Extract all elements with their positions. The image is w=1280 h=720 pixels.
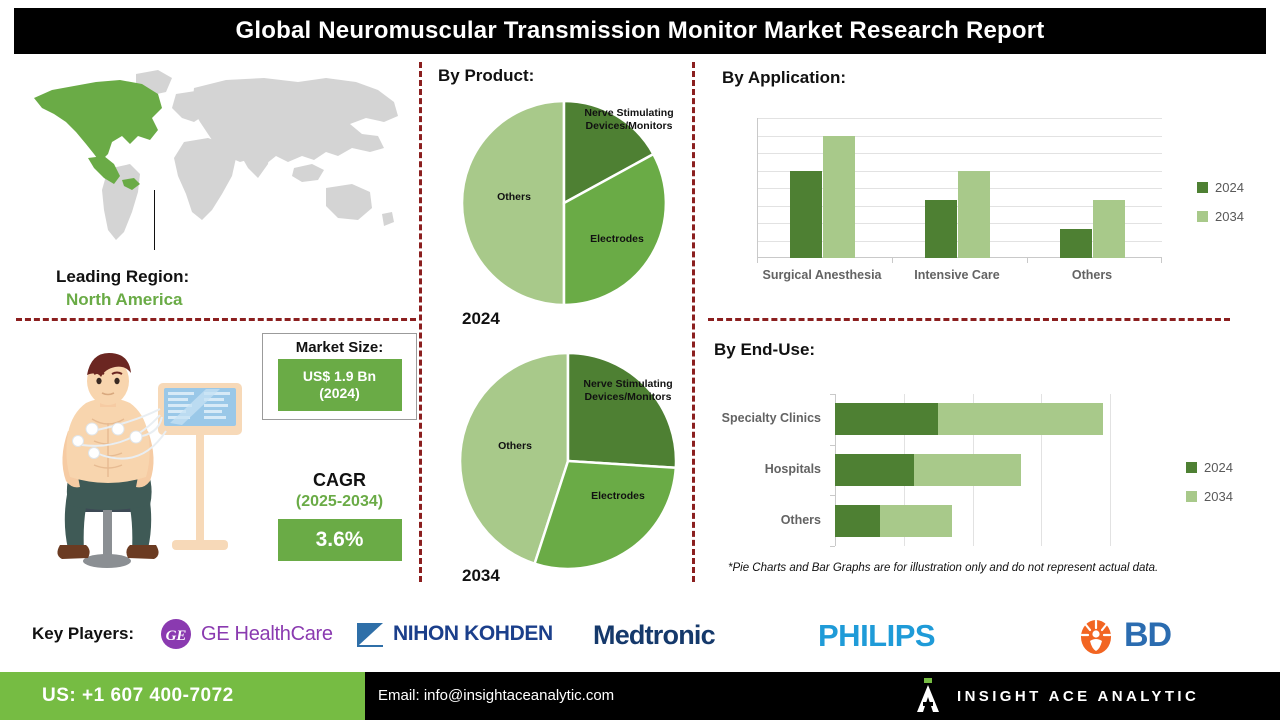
hbar-specialty-2024: [835, 403, 938, 435]
pie-2034-year: 2034: [462, 566, 500, 586]
legend-item-2034: 2034: [1197, 209, 1244, 224]
bar-category-intensive: Intensive Care: [887, 268, 1027, 282]
hbar-specialty-2034: [938, 403, 1103, 435]
divider-vertical-left: [419, 62, 422, 582]
patient-monitoring-illustration: [34, 345, 249, 590]
legend-item-2024: 2024: [1197, 180, 1244, 195]
market-size-title: Market Size:: [296, 339, 384, 356]
legend-swatch-2024: [1197, 182, 1208, 193]
market-size-chip: US$ 1.9 Bn (2024): [278, 359, 402, 411]
bd-flame-icon: [1078, 617, 1114, 655]
legend-label-end-2024: 2024: [1204, 460, 1233, 475]
section-title-by-end-use: By End-Use:: [714, 340, 815, 360]
logo-ge-healthcare: GE GE HealthCare: [160, 618, 333, 650]
hbar-hospitals-2034: [914, 454, 1021, 486]
legend-swatch-end-2024: [1186, 462, 1197, 473]
logo-nihon-kohden-text: NIHON KOHDEN: [393, 622, 553, 646]
bar-others-app-2024: [1060, 229, 1092, 258]
legend-swatch-2034: [1197, 211, 1208, 222]
market-size-box: Market Size: US$ 1.9 Bn (2024): [262, 333, 417, 420]
hbar-category-specialty: Specialty Clinics: [691, 411, 821, 425]
bar-category-surgical: Surgical Anesthesia: [752, 268, 892, 282]
cagr-value-chip: 3.6%: [278, 519, 402, 561]
bar-others-app-2034: [1093, 200, 1125, 258]
legend-label-2024: 2024: [1215, 180, 1244, 195]
market-size-value: US$ 1.9 Bn: [303, 368, 376, 385]
cagr-value: 3.6%: [316, 528, 364, 552]
leading-region-value: North America: [66, 290, 183, 310]
logo-medtronic-text: Medtronic: [593, 620, 715, 650]
bar-chart-by-application: Surgical Anesthesia Intensive Care Other…: [757, 118, 1162, 258]
legend-by-end-use: 2024 2034: [1186, 460, 1233, 518]
nihon-kohden-mark-icon: [355, 620, 385, 648]
hbar-hospitals-2024: [835, 454, 914, 486]
ge-monogram-icon: GE: [160, 618, 192, 650]
brand-name: INSIGHT ACE ANALYTIC: [957, 688, 1199, 705]
legend-label-2034: 2034: [1215, 209, 1244, 224]
footer-email[interactable]: Email: info@insightaceanalytic.com: [378, 687, 614, 704]
pie-chart-by-product-2024: Nerve Stimulating Devices/Monitors Elect…: [456, 95, 672, 316]
logo-nihon-kohden: NIHON KOHDEN: [355, 620, 553, 648]
world-map: [26, 64, 416, 254]
logo-bd-text: BD: [1124, 616, 1171, 655]
cagr-title: CAGR: [262, 470, 417, 491]
bar-intensive-2034: [958, 171, 990, 259]
legend-label-end-2034: 2034: [1204, 489, 1233, 504]
map-leader-line: [154, 190, 155, 250]
bar-intensive-2024: [925, 200, 957, 258]
svg-text:GE: GE: [166, 628, 187, 644]
divider-horizontal-right: [708, 318, 1230, 321]
leading-region-label: Leading Region:: [56, 267, 189, 287]
legend-swatch-end-2034: [1186, 491, 1197, 502]
footer-phone[interactable]: US: +1 607 400-7072: [42, 685, 234, 707]
market-size-year: (2024): [319, 385, 359, 402]
report-header: Global Neuromuscular Transmission Monito…: [14, 8, 1266, 54]
logo-medtronic: Medtronic: [593, 620, 715, 651]
cagr-block: CAGR (2025-2034) 3.6%: [262, 470, 417, 561]
page-title: Global Neuromuscular Transmission Monito…: [236, 17, 1045, 45]
key-players-label: Key Players:: [32, 624, 134, 644]
logo-ge-healthcare-text: GE HealthCare: [201, 623, 333, 646]
bar-surgical-2034: [823, 136, 855, 259]
logo-bd: BD: [1078, 616, 1171, 655]
bar-category-others-app: Others: [1022, 268, 1162, 282]
bar-surgical-2024: [790, 171, 822, 259]
hbar-others-end-2034: [880, 505, 952, 537]
cagr-period: (2025-2034): [262, 493, 417, 511]
divider-vertical-right: [692, 62, 695, 582]
key-players-row: Key Players: GE GE HealthCare NIHON KOHD…: [0, 600, 1280, 672]
bar-chart-by-end-use: Specialty Clinics Hospitals Others: [835, 394, 1165, 546]
divider-horizontal-left: [16, 318, 416, 321]
hbar-others-end-2024: [835, 505, 880, 537]
logo-philips: PHILIPS: [818, 618, 935, 654]
legend-by-application: 2024 2034: [1197, 180, 1244, 238]
brand-block: INSIGHT ACE ANALYTIC: [915, 678, 1199, 714]
pie-2024-year: 2024: [462, 309, 500, 329]
legend-item-end-2024: 2024: [1186, 460, 1233, 475]
section-title-by-application: By Application:: [722, 68, 846, 88]
insight-ace-logo-icon: [915, 678, 941, 714]
hbar-category-hospitals: Hospitals: [691, 462, 821, 476]
logo-philips-text: PHILIPS: [818, 618, 935, 653]
pie-chart-by-product-2034: Nerve Stimulating Devices/Monitors Elect…: [455, 348, 681, 579]
hbar-category-others-end: Others: [691, 513, 821, 527]
section-title-by-product: By Product:: [438, 66, 534, 86]
footer-bar: US: +1 607 400-7072 Email: info@insighta…: [0, 672, 1280, 720]
legend-item-end-2034: 2034: [1186, 489, 1233, 504]
chart-disclaimer: *Pie Charts and Bar Graphs are for illus…: [728, 562, 1158, 574]
infographic-page: Global Neuromuscular Transmission Monito…: [0, 0, 1280, 720]
